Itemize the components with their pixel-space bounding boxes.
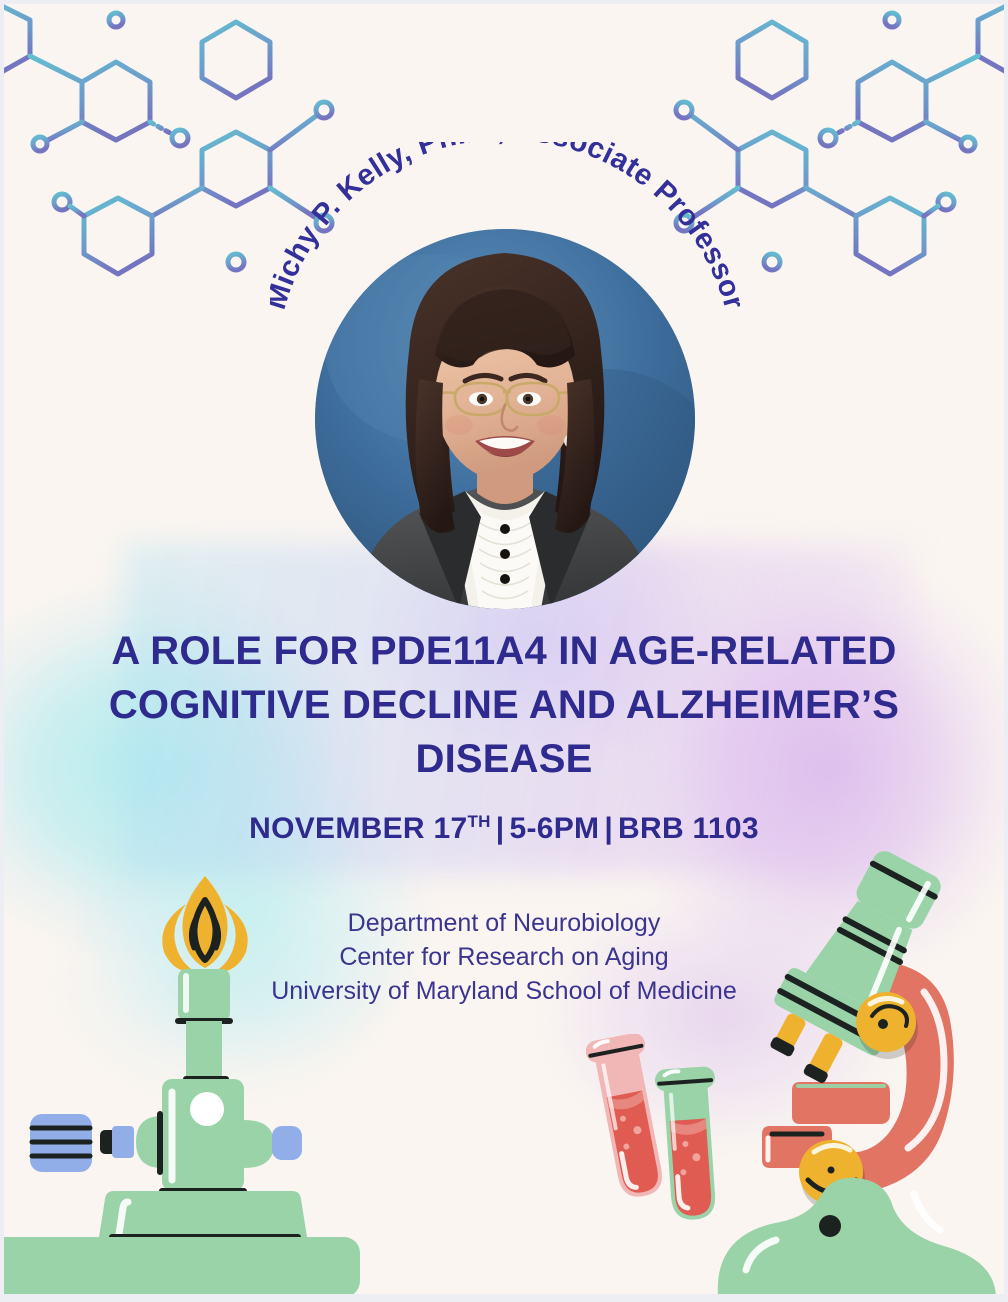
event-time: 5-6PM [509, 812, 599, 845]
event-location: BRB 1103 [618, 812, 759, 845]
poster-canvas: Michy P. Kelly, Ph.D., Associate Profess… [4, 4, 1004, 1294]
event-separator-1: | [491, 812, 510, 845]
title-line-3: DISEASE [64, 732, 944, 786]
speaker-name-arc: Michy P. Kelly, Ph.D., Associate Profess… [270, 142, 740, 352]
speaker-name-text: Michy P. Kelly, Ph.D., Associate Profess… [270, 142, 740, 313]
event-details: NOVEMBER 17TH|5-6PM|BRB 1103 [64, 812, 944, 846]
event-separator-2: | [599, 812, 618, 845]
title-line-2: COGNITIVE DECLINE AND ALZHEIMER’S [64, 678, 944, 732]
title-line-1: A ROLE FOR PDE11A4 IN AGE-RELATED [64, 624, 944, 678]
page-title: A ROLE FOR PDE11A4 IN AGE-RELATED COGNIT… [64, 624, 944, 786]
microscope-icon [692, 844, 1004, 1294]
bunsen-burner-icon [4, 864, 390, 1294]
event-date: NOVEMBER 17 [249, 812, 467, 845]
event-date-ordinal: TH [468, 812, 491, 831]
